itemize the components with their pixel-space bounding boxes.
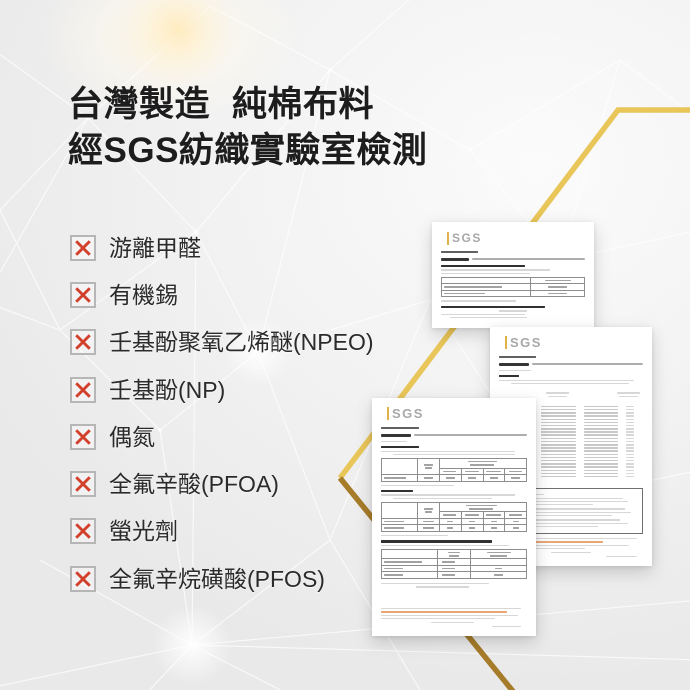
table-cell — [382, 550, 438, 559]
document-body: SGS — [432, 222, 594, 328]
list-item-label: 壬基酚(NP) — [109, 377, 225, 403]
section-3-text — [381, 545, 509, 546]
table-row — [382, 550, 527, 559]
table-cell — [440, 503, 527, 512]
list-item: 全氟辛烷磺酸(PFOS) — [70, 555, 374, 602]
report-meta-line — [414, 434, 527, 436]
title-line-2: 經SGS紡織實驗室檢測 — [68, 128, 427, 174]
report-subheading — [499, 370, 531, 371]
report-subtitle-line — [441, 251, 478, 253]
section-2-text — [381, 494, 515, 495]
title-line-1: 台灣製造純棉布料 — [68, 82, 427, 128]
red-x-icon — [72, 520, 94, 542]
checkbox-1[interactable] — [70, 282, 96, 308]
table-cell — [440, 459, 527, 468]
section-1 — [441, 265, 585, 274]
red-x-icon — [72, 284, 94, 306]
section-1-text — [381, 451, 515, 452]
checkbox-2[interactable] — [70, 329, 96, 355]
checkbox-6[interactable] — [70, 518, 96, 544]
list-item-label: 全氟辛烷磺酸(PFOS) — [109, 566, 325, 592]
section-2 — [441, 306, 585, 319]
section-1 — [499, 375, 643, 384]
table-note — [381, 535, 448, 536]
table-cell — [418, 459, 440, 475]
table-row — [382, 525, 527, 532]
table-cell — [531, 290, 585, 297]
table-row — [382, 503, 527, 512]
list-item: 有機錫 — [70, 271, 374, 318]
checkbox-3[interactable] — [70, 377, 96, 403]
table-row — [382, 475, 527, 482]
list-item: 螢光劑 — [70, 508, 374, 555]
checkbox-5[interactable] — [70, 471, 96, 497]
table-cell — [382, 459, 418, 475]
list-item: 偶氮 — [70, 413, 374, 460]
result-table-1 — [381, 458, 527, 481]
title-line-1-part-a: 台灣製造 — [68, 85, 210, 124]
table-cell — [461, 525, 483, 532]
test-report-label — [381, 434, 411, 437]
list-item-label: 壬基酚聚氧乙烯醚(NPEO) — [109, 329, 374, 355]
red-x-icon — [72, 379, 94, 401]
table-cell — [382, 572, 438, 579]
red-x-icon — [72, 473, 94, 495]
report-title-line — [499, 363, 643, 366]
section-2-heading — [441, 306, 545, 309]
table-cell — [505, 475, 527, 482]
section-2-value — [499, 310, 528, 311]
section-2 — [381, 490, 527, 499]
section-1-text — [393, 454, 516, 455]
checkbox-4[interactable] — [70, 424, 96, 450]
section-2-text — [393, 498, 492, 499]
table-cell — [471, 572, 527, 579]
report-header — [499, 356, 643, 371]
test-report-label — [499, 363, 529, 366]
table-cell — [440, 475, 462, 482]
list-item-label: 游離甲醛 — [109, 235, 201, 261]
table-cell — [418, 525, 440, 532]
sgs-logo: SGS — [447, 232, 482, 245]
data-column-result-2 — [584, 404, 621, 479]
result-table-1 — [441, 277, 585, 298]
checkbox-7[interactable] — [70, 566, 96, 592]
list-item-label: 全氟辛酸(PFOA) — [109, 471, 279, 497]
section-2-heading — [381, 490, 413, 493]
report-header — [381, 427, 527, 442]
report-title-line — [381, 434, 527, 437]
closing-note — [381, 583, 527, 588]
list-item-label: 有機錫 — [109, 282, 178, 308]
column-header-group-1 — [542, 390, 574, 399]
page-title: 台灣製造純棉布料 經SGS紡織實驗室檢測 — [68, 82, 427, 174]
result-table-2 — [381, 502, 527, 532]
report-subheading — [381, 441, 407, 442]
list-item: 游離甲醛 — [70, 224, 374, 271]
table-row — [382, 572, 527, 579]
section-1-text — [499, 380, 634, 381]
list-item: 壬基酚(NP) — [70, 366, 374, 413]
report-subtitle-line — [499, 356, 536, 358]
document-footer — [381, 605, 527, 629]
report-meta-line — [532, 363, 643, 365]
substance-checklist: 游離甲醛 有機錫 壬基酚聚氧乙烯醚(NPEO) 壬基酚(NP) 偶氮 — [70, 224, 374, 602]
list-item-label: 偶氮 — [109, 424, 155, 450]
section-3-heading — [381, 540, 492, 543]
red-x-icon — [72, 237, 94, 259]
table-cell — [382, 475, 418, 482]
checkbox-0[interactable] — [70, 235, 96, 261]
sgs-test-report-back[interactable]: SGS — [432, 222, 594, 328]
table-cell — [483, 525, 505, 532]
data-column-result-1 — [541, 404, 578, 479]
table-cell — [440, 525, 462, 532]
title-line-1-part-b: 純棉布料 — [232, 85, 374, 124]
red-x-icon — [72, 568, 94, 590]
report-subtitle-line — [381, 427, 419, 429]
test-report-label — [441, 258, 469, 261]
document-body: SGS — [372, 398, 536, 636]
column-header-group-2 — [614, 390, 643, 399]
sgs-test-report-front[interactable]: SGS — [372, 398, 536, 636]
report-title-line — [441, 258, 585, 261]
table-cell — [461, 475, 483, 482]
table-cell — [418, 475, 440, 482]
section-2-text — [450, 317, 528, 318]
result-table-3 — [381, 549, 527, 579]
table-note — [381, 485, 454, 486]
poster-canvas: 台灣製造純棉布料 經SGS紡織實驗室檢測 游離甲醛 有機錫 壬基酚聚氧乙烯醚(N… — [0, 0, 690, 690]
section-1-heading — [381, 446, 419, 449]
table-cell — [418, 503, 440, 519]
sgs-logo: SGS — [505, 336, 542, 349]
section-1-text — [441, 269, 550, 270]
report-meta-line — [472, 258, 585, 260]
section-1-text — [511, 383, 629, 384]
table-cell — [437, 572, 470, 579]
list-item-label: 螢光劑 — [109, 518, 178, 544]
section-1 — [381, 446, 527, 455]
section-1-heading — [499, 375, 519, 378]
data-column-limit — [626, 404, 643, 479]
table-row — [382, 459, 527, 468]
table-cell — [437, 550, 470, 559]
red-x-icon — [72, 426, 94, 448]
table-note — [441, 300, 516, 301]
table-row — [442, 290, 585, 297]
sgs-logo: SGS — [387, 407, 424, 420]
report-header — [441, 251, 585, 261]
list-item: 壬基酚聚氧乙烯醚(NPEO) — [70, 319, 374, 366]
table-cell — [505, 525, 527, 532]
table-cell — [382, 525, 418, 532]
table-cell — [382, 503, 418, 519]
table-cell — [483, 475, 505, 482]
red-x-icon — [72, 331, 94, 353]
table-cell — [442, 290, 531, 297]
section-1-heading — [441, 265, 525, 268]
section-3 — [381, 540, 527, 546]
section-1-text — [441, 273, 530, 274]
section-2-text — [441, 314, 525, 315]
table-cell — [471, 550, 527, 559]
list-item: 全氟辛酸(PFOA) — [70, 460, 374, 507]
